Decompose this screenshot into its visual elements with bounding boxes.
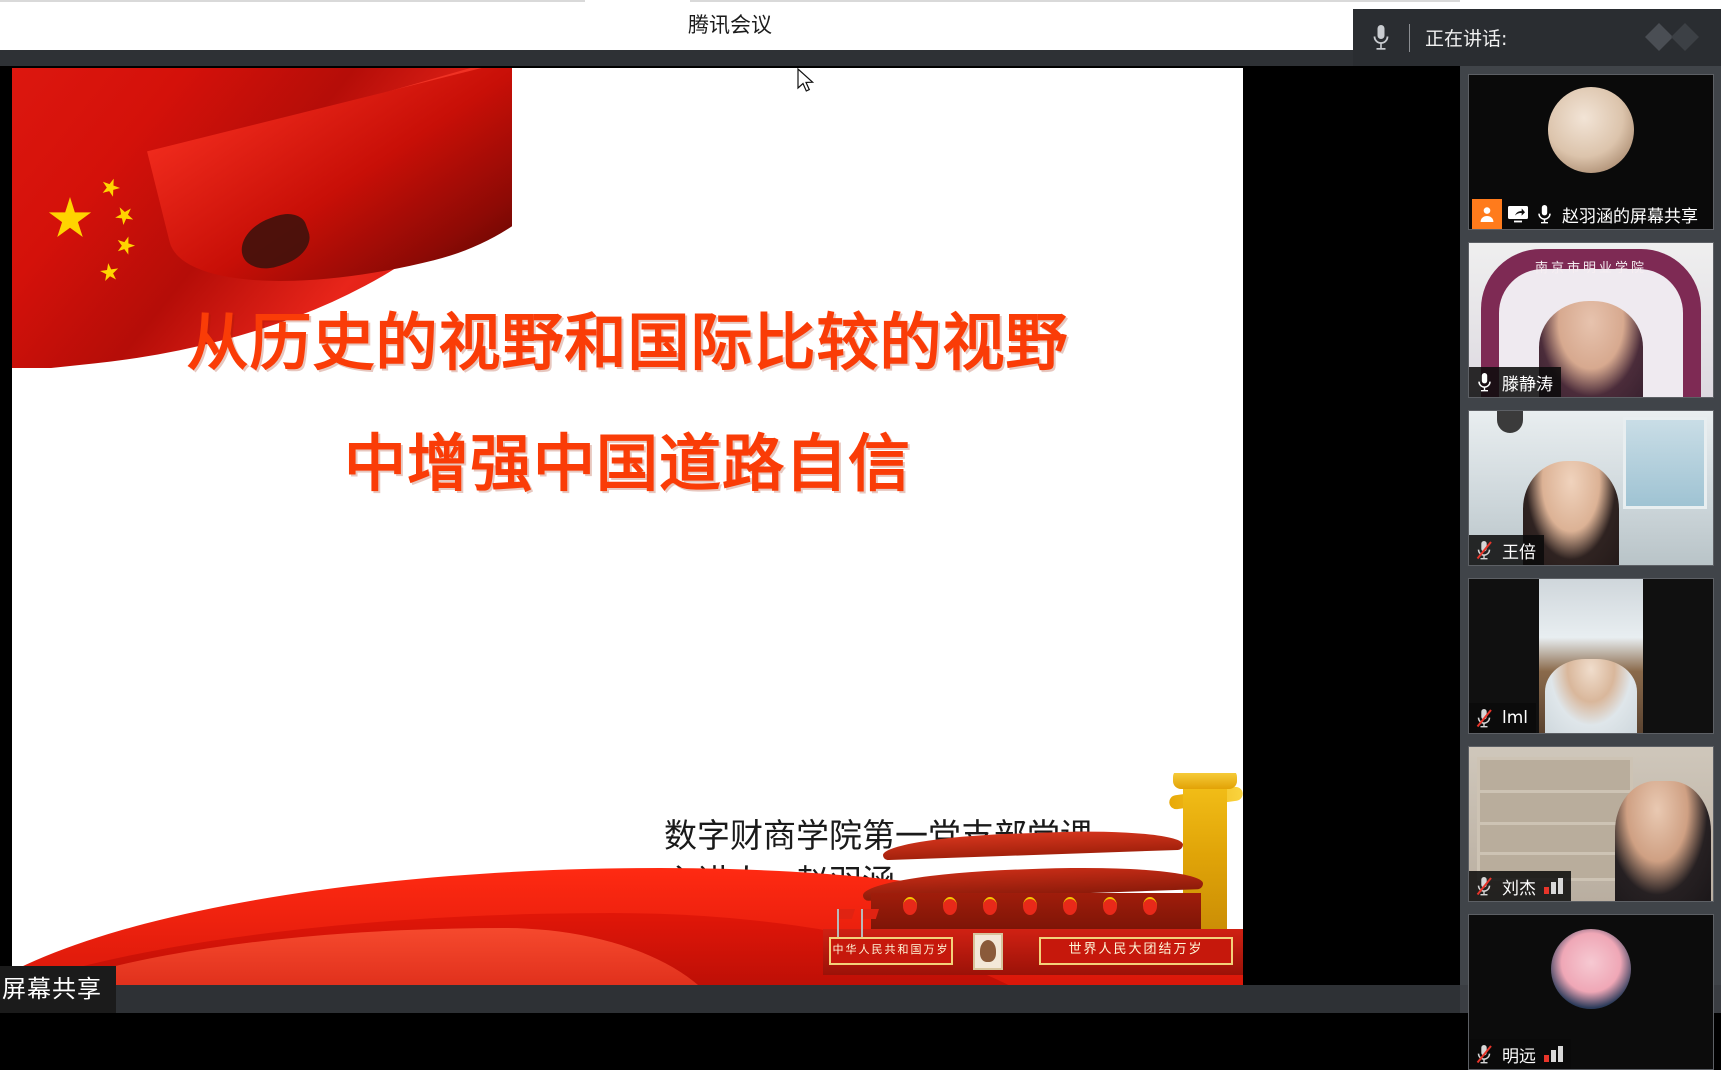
background-window: [1623, 417, 1707, 509]
huabiao-cap: [1173, 773, 1237, 789]
tencent-meeting-logo-icon: [1641, 17, 1713, 59]
participant-figure: [1615, 781, 1711, 901]
participant-tile[interactable]: lml: [1468, 578, 1714, 734]
microphone-icon: [1472, 367, 1496, 397]
app-title: 腾讯会议: [0, 0, 1460, 50]
participant-name: 赵羽涵的屏幕共享: [1562, 202, 1698, 227]
participant-name: 滕静涛: [1502, 370, 1553, 395]
participant-namebar: lml: [1469, 703, 1536, 733]
gate-banner-right: 世界人民大团结万岁: [1039, 937, 1233, 965]
tiananmen-gate-icon: 中华人民共和国万岁 世界人民大团结万岁: [823, 773, 1243, 988]
shared-screen-slide[interactable]: 从历史的视野和国际比较的视野 中增强中国道路自信 数字财商学院第一党支部党课 主…: [12, 68, 1243, 988]
participant-rail[interactable]: 赵羽涵的屏幕共享 南京市明业学院 滕静涛 王倍: [1460, 66, 1721, 985]
gate-lantern-3: [983, 897, 997, 915]
stage-right-gap: [1262, 66, 1460, 985]
screen-share-status-label: 屏幕共享: [0, 966, 116, 1013]
speaking-divider: [1409, 24, 1410, 52]
slide-title-line-1: 从历史的视野和国际比较的视野: [12, 283, 1243, 404]
participant-namebar: 刘杰: [1469, 871, 1571, 901]
participant-namebar: 明远: [1469, 1039, 1571, 1069]
microphone-muted-icon: [1472, 1039, 1496, 1069]
network-signal-icon: [1544, 1046, 1563, 1062]
participant-namebar: 王倍: [1469, 535, 1544, 565]
participant-name: 刘杰: [1502, 874, 1536, 899]
microphone-icon: [1532, 199, 1556, 229]
participant-name: 明远: [1502, 1042, 1536, 1067]
speaking-indicator-bar: 正在讲话:: [1353, 9, 1721, 66]
participant-name: lml: [1502, 708, 1528, 728]
host-icon: [1472, 199, 1502, 229]
participant-figure: [1545, 659, 1637, 733]
participant-name: 王倍: [1502, 538, 1536, 563]
window-bottom-strip: [0, 985, 1721, 1013]
backdrop-text: 南京市明业学院: [1469, 257, 1713, 276]
gate-flagpole-1: [837, 909, 839, 937]
screen-share-icon: [1504, 199, 1532, 229]
participant-tile[interactable]: 赵羽涵的屏幕共享: [1468, 74, 1714, 230]
background-lamp: [1497, 411, 1523, 433]
participant-namebar: 赵羽涵的屏幕共享: [1469, 199, 1706, 229]
participant-namebar: 滕静涛: [1469, 367, 1561, 397]
participant-avatar: [1551, 929, 1631, 1009]
speaking-mic-icon: [1353, 23, 1409, 53]
speaking-label: 正在讲话:: [1425, 24, 1507, 51]
gate-lantern-2: [943, 897, 957, 915]
gate-flagpole-2: [861, 909, 863, 937]
gate-lantern-1: [903, 897, 917, 915]
gate-portrait: [973, 933, 1003, 970]
stage-top-band: [0, 50, 1460, 66]
gate-small-flag-1: [839, 909, 855, 919]
participant-tile[interactable]: 明远: [1468, 914, 1714, 1070]
participant-tile[interactable]: 南京市明业学院 滕静涛: [1468, 242, 1714, 398]
background-bookshelf: [1477, 757, 1633, 881]
microphone-muted-icon: [1472, 871, 1496, 901]
slide-title: 从历史的视野和国际比较的视野 中增强中国道路自信: [12, 283, 1243, 525]
gate-lantern-5: [1063, 897, 1077, 915]
gate-lantern-6: [1103, 897, 1117, 915]
gate-lantern-4: [1023, 897, 1037, 915]
microphone-muted-icon: [1472, 535, 1496, 565]
participant-tile[interactable]: 王倍: [1468, 410, 1714, 566]
participant-tile[interactable]: 刘杰: [1468, 746, 1714, 902]
slide-title-line-2: 中增强中国道路自信: [12, 404, 1243, 525]
gate-lantern-7: [1143, 897, 1157, 915]
gate-banner-left: 中华人民共和国万岁: [829, 937, 953, 965]
network-signal-icon: [1544, 878, 1563, 894]
microphone-muted-icon: [1472, 703, 1496, 733]
gate-roof-upper: [883, 828, 1183, 860]
